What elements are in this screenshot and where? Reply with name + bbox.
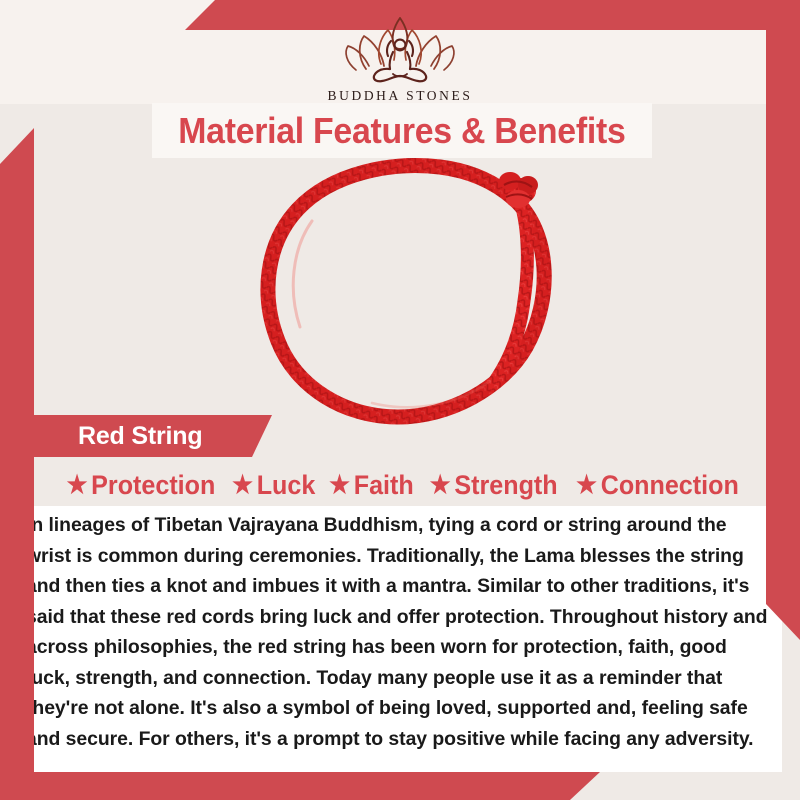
product-image-area	[0, 155, 800, 415]
benefit-item-faith: ★ Faith	[326, 470, 418, 501]
star-icon: ★	[430, 473, 451, 498]
description-text: In lineages of Tibetan Vajrayana Buddhis…	[26, 510, 768, 754]
red-string-ribbon: Red String	[14, 415, 272, 457]
benefit-item-luck: ★ Luck	[228, 470, 319, 501]
red-braided-string-bracelet-icon	[252, 151, 578, 427]
frame-bar-bottom	[0, 772, 800, 800]
star-icon: ★	[66, 473, 87, 498]
brand-name: BUDDHA STONES	[328, 88, 473, 104]
benefit-item-strength: ★ Strength	[426, 470, 561, 501]
benefit-label: Luck	[256, 470, 315, 501]
benefit-label: Connection	[601, 470, 739, 501]
poster-root: BUDDHA STONES Material Features & Benefi…	[0, 0, 800, 800]
frame-bar-right	[766, 0, 800, 640]
benefit-label: Strength	[454, 470, 557, 501]
benefit-label: Protection	[91, 470, 215, 501]
star-icon: ★	[329, 473, 350, 498]
title-banner: Material Features & Benefits	[152, 103, 652, 158]
page-title: Material Features & Benefits	[178, 110, 625, 152]
benefits-row: ★ Protection ★ Luck ★ Faith ★ Strength ★…	[38, 464, 768, 506]
benefit-item-protection: ★ Protection	[63, 470, 219, 501]
benefit-item-connection: ★ Connection	[573, 470, 743, 501]
star-icon: ★	[577, 473, 598, 498]
benefit-label: Faith	[354, 470, 414, 501]
brand-logo: BUDDHA STONES	[310, 14, 490, 104]
lotus-meditation-figure-icon	[336, 14, 464, 86]
ribbon-label: Red String	[78, 422, 202, 451]
star-icon: ★	[232, 473, 253, 498]
frame-bar-left	[0, 128, 34, 800]
description-panel: In lineages of Tibetan Vajrayana Buddhis…	[22, 506, 782, 772]
